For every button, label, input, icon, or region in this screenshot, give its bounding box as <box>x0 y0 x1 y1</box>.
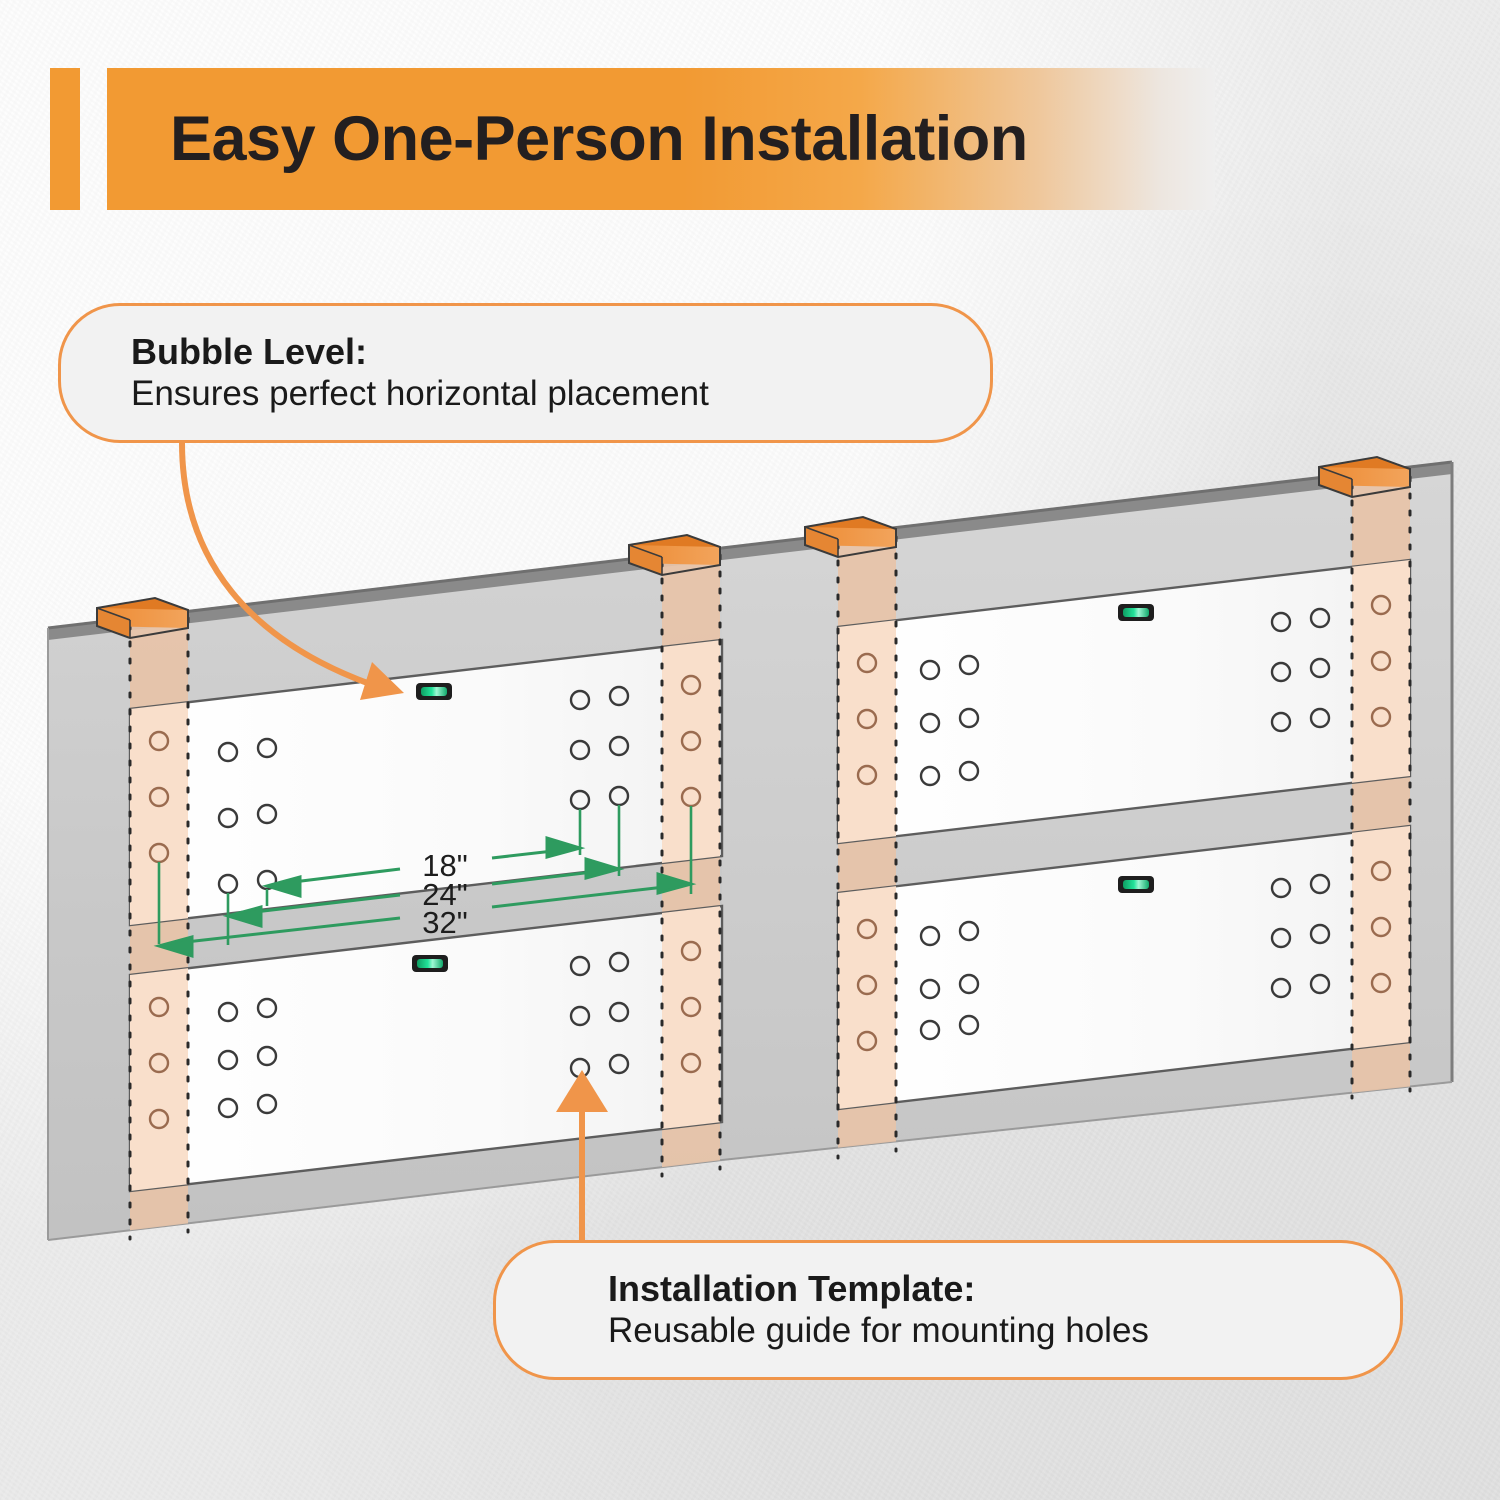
callout-bubble-level: Bubble Level: Ensures perfect horizontal… <box>58 303 993 443</box>
callout-installation-template: Installation Template: Reusable guide fo… <box>493 1240 1403 1380</box>
bubble-level-icon <box>416 683 452 700</box>
bubble-level-icon <box>412 955 448 972</box>
dimension-labels: 18" 24" 32" <box>422 848 468 940</box>
callout-bubble-level-title: Bubble Level: <box>131 331 990 373</box>
page-title: Easy One-Person Installation <box>170 103 1028 175</box>
bubble-level-icon <box>1118 604 1154 621</box>
bubble-level-icon <box>1118 876 1154 893</box>
header-accent-bar <box>50 68 80 210</box>
callout-installation-template-subtitle: Reusable guide for mounting holes <box>608 1310 1400 1352</box>
header-banner: Easy One-Person Installation <box>50 68 1215 210</box>
dimension-label: 32" <box>422 905 468 940</box>
callout-bubble-level-subtitle: Ensures perfect horizontal placement <box>131 373 990 415</box>
callout-installation-template-title: Installation Template: <box>608 1268 1400 1310</box>
